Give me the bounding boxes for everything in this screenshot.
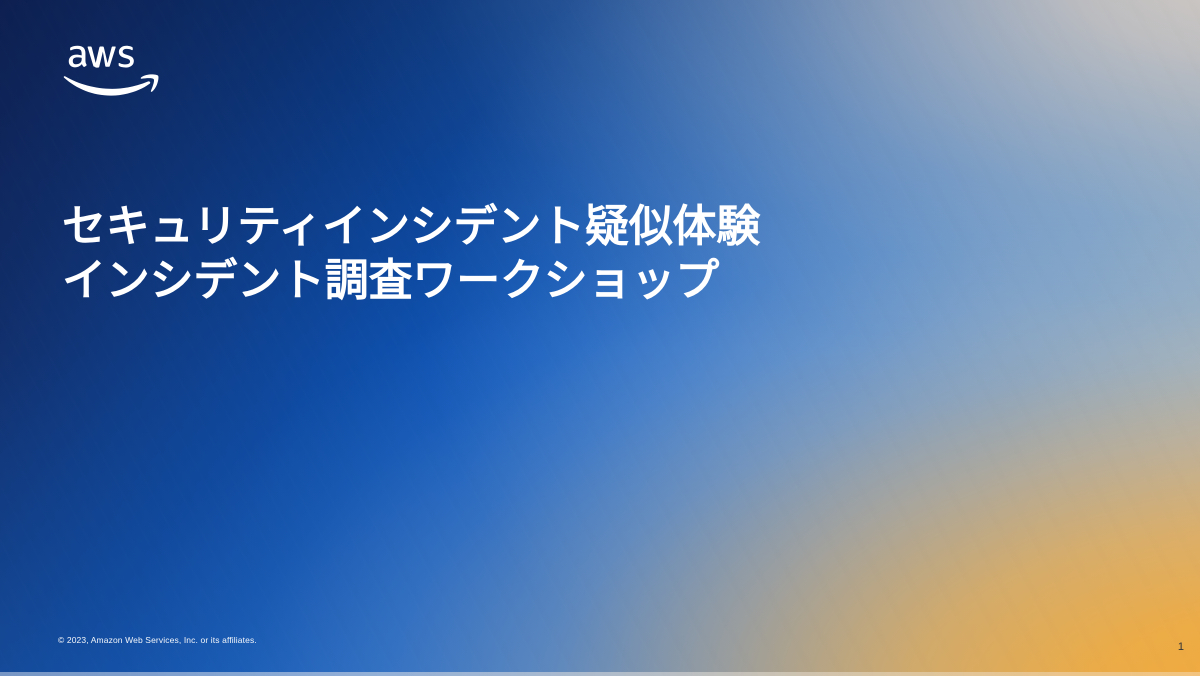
page-title: セキュリティインシデント疑似体験 インシデント調査ワークショップ [62,200,962,308]
copyright-notice: © 2023, Amazon Web Services, Inc. or its… [58,635,257,646]
background-texture-bands [0,0,1200,676]
aws-smile-logo [62,40,166,110]
title-slide: セキュリティインシデント疑似体験 インシデント調査ワークショップ © 2023,… [0,0,1200,676]
background-bottom-edge-strip [0,672,1200,676]
page-number: 1 [1178,641,1184,654]
title-line-2: インシデント調査ワークショップ [62,254,962,308]
title-line-1: セキュリティインシデント疑似体験 [62,200,962,254]
